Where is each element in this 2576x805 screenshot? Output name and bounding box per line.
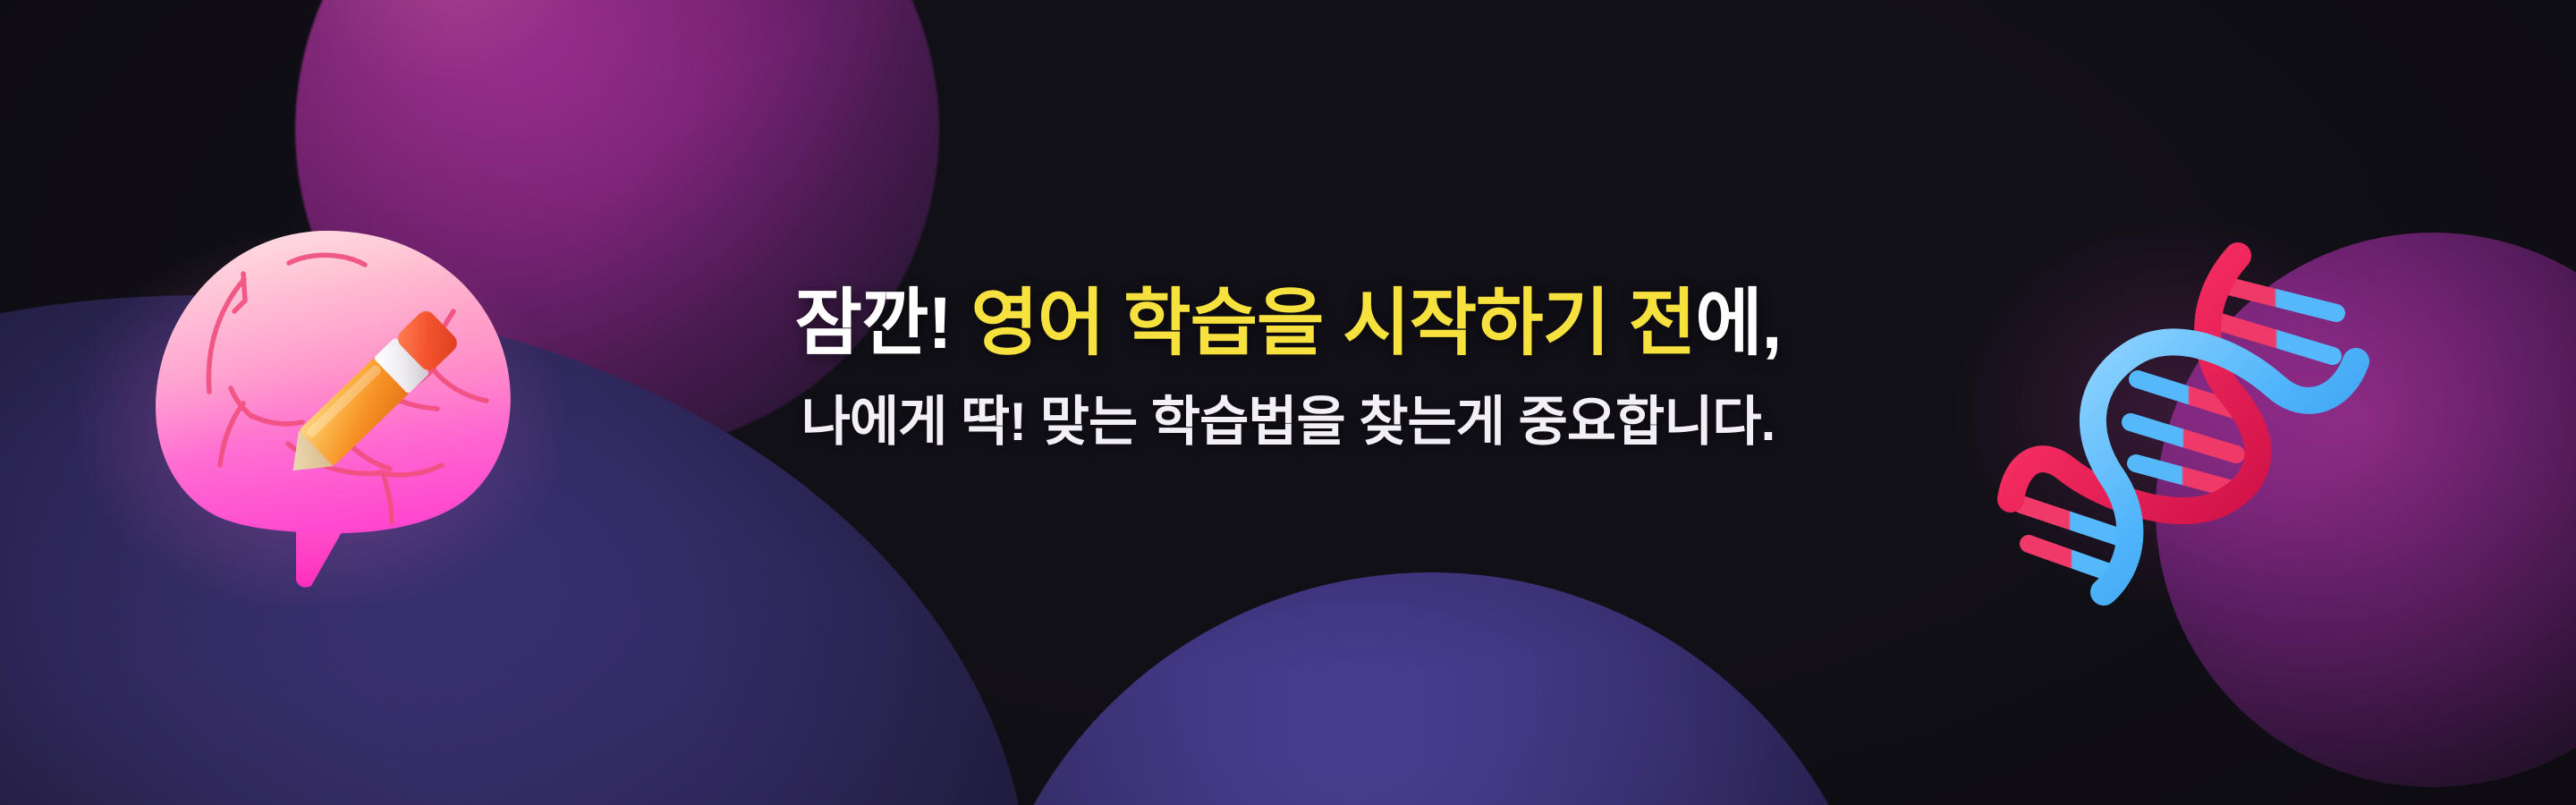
banner-copy: 잠깐! 영어 학습을 시작하기 전에, 나에게 딱! 맞는 학습법을 찾는게 중…: [0, 284, 2576, 453]
headline-segment-white-last: 에,: [1695, 283, 1781, 364]
promo-banner: 잠깐! 영어 학습을 시작하기 전에, 나에게 딱! 맞는 학습법을 찾는게 중…: [0, 0, 2576, 805]
page-subtitle: 나에게 딱! 맞는 학습법을 찾는게 중요합니다.: [0, 391, 2576, 453]
headline-segment-white-first: 잠깐!: [795, 283, 952, 364]
headline-segment-yellow: 영어 학습을 시작하기 전: [952, 283, 1696, 364]
page-title: 잠깐! 영어 학습을 시작하기 전에,: [0, 284, 2576, 364]
